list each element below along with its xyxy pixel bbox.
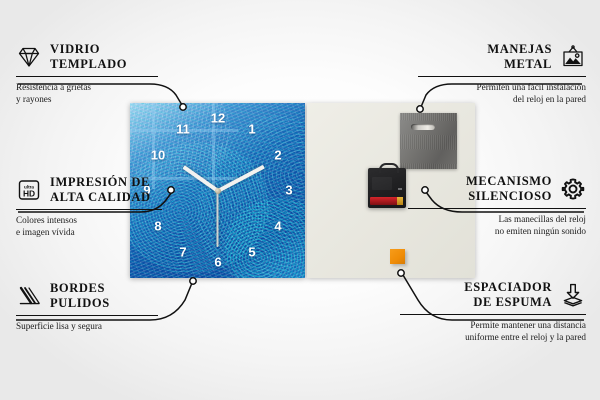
ultra-hd-badge-icon: ultra HD [16, 177, 42, 203]
clock-numeral: 11 [176, 123, 190, 136]
clock-numeral: 2 [274, 149, 281, 162]
divider [418, 76, 586, 77]
battery [370, 197, 403, 205]
callout-title: VIDRIO TEMPLADO [50, 42, 127, 72]
clock-second-hand [217, 191, 219, 247]
divider [408, 208, 586, 209]
mechanism-housing [372, 177, 392, 190]
divider [16, 76, 158, 77]
clock-numeral: 6 [214, 256, 221, 269]
clock-numeral: 1 [248, 123, 255, 136]
mechanism-hook [379, 163, 399, 173]
callout-subtitle: Resistencia a grietas y rayones [16, 81, 158, 105]
gear-icon [560, 176, 586, 202]
clock-numeral: 10 [151, 149, 165, 162]
callout-vidrio-templado: VIDRIO TEMPLADO Resistencia a grietas y … [16, 42, 158, 105]
callout-title: MANEJAS METAL [487, 42, 552, 72]
clock-mechanism [368, 168, 406, 208]
callout-bordes-pulidos: BORDES PULIDOS Superficie lisa y segura [16, 281, 158, 332]
hanger-slot [411, 124, 435, 130]
callout-subtitle: Permiten una fácil instalación del reloj… [418, 81, 586, 105]
callout-subtitle: Las manecillas del reloj no emiten ningú… [408, 213, 586, 237]
hanger-plate [400, 113, 457, 169]
clock-numeral: 12 [211, 112, 225, 125]
callout-title: ESPACIADOR DE ESPUMA [464, 280, 552, 310]
callout-impresion-alta-calidad: ultra HD IMPRESIÓN DE ALTA CALIDAD Color… [16, 175, 162, 238]
callout-title: IMPRESIÓN DE ALTA CALIDAD [50, 175, 151, 205]
infographic-canvas: 12 1 2 3 4 5 6 7 8 9 10 11 [0, 0, 600, 400]
clock-numeral: 7 [179, 246, 186, 259]
callout-subtitle: Permite mantener una distancia uniforme … [400, 319, 586, 343]
divider [400, 314, 586, 315]
clock-numeral: 5 [248, 246, 255, 259]
diamond-icon [16, 44, 42, 70]
svg-text:HD: HD [23, 188, 35, 198]
divider [16, 315, 158, 316]
callout-manejas-metal: MANEJAS METAL Permiten una fácil instala… [418, 42, 586, 105]
callout-subtitle: Colores intensos e imagen vívida [16, 214, 162, 238]
divider [16, 209, 162, 210]
clock-center-cap [215, 188, 221, 194]
framed-picture-icon [560, 44, 586, 70]
polished-edges-icon [16, 283, 42, 309]
foam-spacer [390, 249, 405, 264]
callout-title: MECANISMO SILENCIOSO [466, 174, 552, 204]
callout-mecanismo-silencioso: MECANISMO SILENCIOSO Las manecillas del … [408, 174, 586, 237]
callout-espaciador-espuma: ESPACIADOR DE ESPUMA Permite mantener un… [400, 280, 586, 343]
callout-subtitle: Superficie lisa y segura [16, 320, 158, 332]
clock-numeral: 4 [274, 220, 281, 233]
mechanism-marking [398, 188, 402, 190]
arrow-down-pad-icon [560, 282, 586, 308]
clock-numeral: 3 [285, 184, 292, 197]
callout-title: BORDES PULIDOS [50, 281, 110, 311]
